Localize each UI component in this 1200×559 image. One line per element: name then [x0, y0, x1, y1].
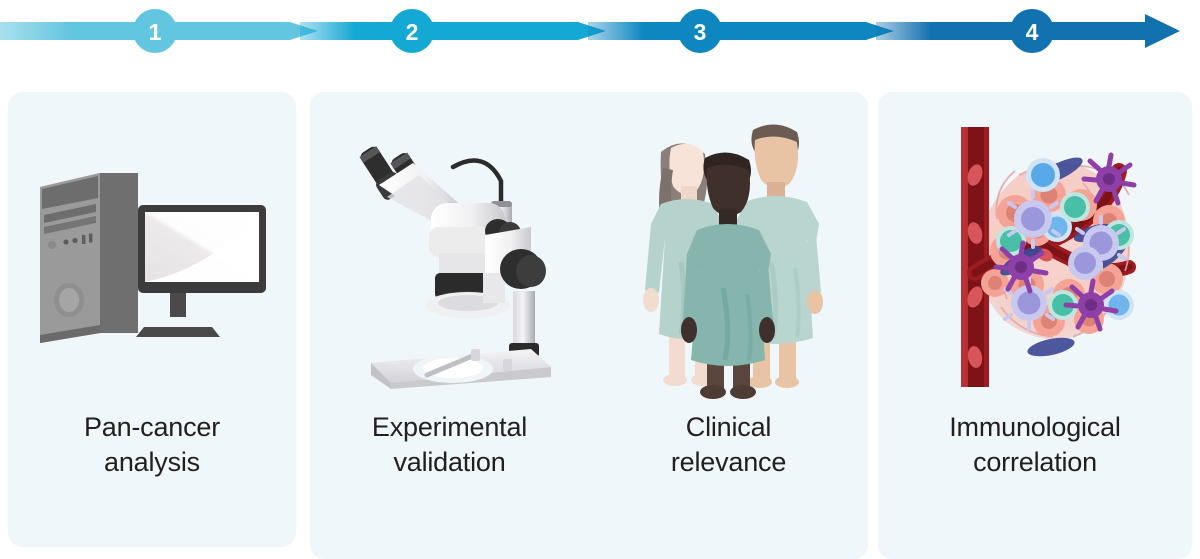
timeline-step-3[interactable]: 3 [678, 9, 722, 53]
figure-canvas: 1 2 3 4 [0, 0, 1200, 559]
timeline-step-2[interactable]: 2 [390, 9, 434, 53]
step-4-caption-line1: Immunological [949, 412, 1120, 442]
step-2-caption-line2: validation [310, 445, 589, 480]
step-cell-experimental-validation: Experimental validation [310, 92, 589, 559]
patients-group-icon [589, 102, 868, 412]
step-4-caption: Immunological correlation [878, 410, 1192, 480]
timeline-step-4[interactable]: 4 [1010, 9, 1054, 53]
step-1-caption: Pan-cancer analysis [8, 410, 296, 480]
step-3-caption: Clinical relevance [589, 410, 868, 480]
step-cell-immunological-correlation: Immunological correlation [878, 92, 1192, 559]
progress-timeline: 1 2 3 4 [0, 0, 1200, 62]
desktop-computer-icon [8, 102, 296, 412]
step-3-caption-line2: relevance [589, 445, 868, 480]
step-4-number: 4 [1026, 19, 1039, 45]
timeline-segment-2 [300, 22, 606, 40]
step-3-number: 3 [694, 19, 707, 45]
step-cell-clinical-relevance: Clinical relevance [589, 92, 868, 559]
step-2-number: 2 [406, 19, 419, 45]
timeline-segment-3 [588, 22, 894, 40]
step-4-caption-line2: correlation [878, 445, 1192, 480]
step-1-number: 1 [149, 19, 162, 45]
step-1-caption-line2: analysis [8, 445, 296, 480]
step-cell-pan-cancer-analysis: Pan-cancer analysis [8, 92, 296, 559]
tumor-microenvironment-icon [878, 102, 1192, 412]
step-1-caption-line1: Pan-cancer [84, 412, 220, 442]
step-2-caption-line1: Experimental [372, 412, 527, 442]
step-2-caption: Experimental validation [310, 410, 589, 480]
timeline-step-1[interactable]: 1 [133, 9, 177, 53]
step-3-caption-line1: Clinical [686, 412, 771, 442]
stereo-microscope-icon [310, 102, 589, 412]
